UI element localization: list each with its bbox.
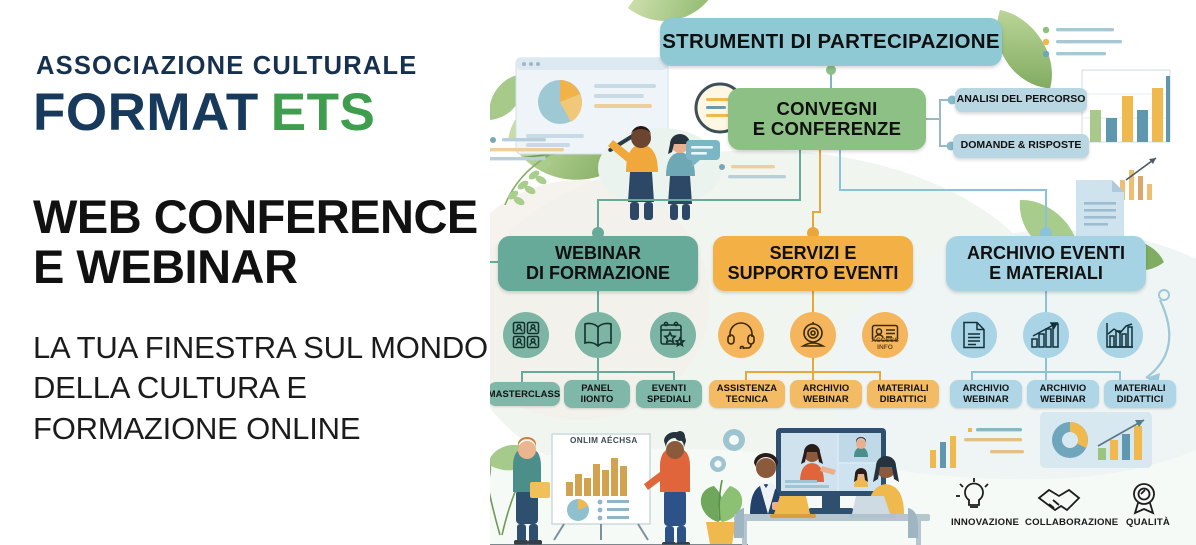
open-book-icon[interactable] — [575, 312, 621, 358]
chip-domande-risposte[interactable]: DOMANDE & RISPOSTE — [953, 134, 1089, 158]
node-convegni-conferenze[interactable]: CONVEGNI E CONFERENZE — [728, 88, 926, 150]
webcam-check-icon[interactable] — [790, 312, 836, 358]
value-collaborazione: COLLABORAZIONE — [1025, 515, 1115, 528]
left-text-panel: ASSOCIAZIONE CULTURALE FORMATETS WEB CON… — [0, 0, 490, 545]
document-icon[interactable] — [951, 312, 997, 358]
association-label: ASSOCIAZIONE CULTURALE — [36, 52, 418, 81]
page-subtitle: LA TUA FINESTRA SUL MONDO DELLA CULTURA … — [33, 328, 490, 449]
value-innovazione-label: INNOVAZIONE — [950, 517, 1020, 528]
leaf-archivio-webinar-3[interactable]: ARCHIVIO WEBINAR — [1027, 380, 1099, 408]
calendar-star-icon[interactable] — [650, 312, 696, 358]
line-bar-chart-icon[interactable] — [1097, 312, 1143, 358]
leaf-assistenza-tecnica[interactable]: ASSISTENZA TECNICA — [709, 380, 785, 408]
value-collaborazione-label: COLLABORAZIONE — [1025, 517, 1115, 528]
node-archivio-eventi-materiali[interactable]: ARCHIVIO EVENTI E MATERIALI — [946, 236, 1146, 291]
leaf-masterclass[interactable]: MASTERCLASS — [488, 382, 560, 406]
node-strumenti-partecipazione[interactable]: STRUMENTI DI PARTECIPAZIONE — [660, 18, 1002, 66]
node-webinar-di-formazione[interactable]: WEBINAR DI FORMAZIONE — [498, 236, 698, 291]
headset-icon[interactable] — [718, 312, 764, 358]
brand-logo: FORMATETS — [33, 86, 375, 139]
brand-name-primary: FORMAT — [33, 83, 259, 142]
people-grid-icon[interactable] — [503, 312, 549, 358]
poster-canvas: ASSOCIAZIONE CULTURALE FORMATETS WEB CON… — [0, 0, 1196, 545]
leaf-materiali-dibattici[interactable]: MATERIALI DIBATTICI — [867, 380, 939, 408]
leaf-eventi-spediali[interactable]: EVENTI SPEDIALI — [636, 380, 702, 408]
leaf-materiali-didattici[interactable]: MATERIALI DIDATTICI — [1104, 380, 1176, 408]
infographic-panel: STRUMENTI DI PARTECIPAZIONE CONVEGNI E C… — [460, 0, 1196, 545]
leaf-panel-iionto[interactable]: PANEL IIONTO — [564, 380, 630, 408]
badge-access-label: ACCSSS INFO — [862, 338, 908, 352]
value-qualita-label: QUALITÀ — [1118, 517, 1178, 528]
value-innovazione: INNOVAZIONE — [950, 515, 1020, 528]
leaf-archivio-webinar-1[interactable]: ARCHIVIO WEBINAR — [790, 380, 862, 408]
bar-chart-up-icon[interactable] — [1023, 312, 1069, 358]
node-servizi-supporto-eventi[interactable]: SERVIZI E SUPPORTO EVENTI — [713, 236, 913, 291]
value-qualita: QUALITÀ — [1118, 515, 1178, 528]
brand-name-secondary: ETS — [271, 83, 376, 142]
leaf-archivio-webinar-2[interactable]: ARCHIVIO WEBINAR — [950, 380, 1022, 408]
chip-analisi-del-percorso[interactable]: ANALISI DEL PERCORSO — [955, 88, 1087, 112]
flipchart-label: ONLIM AÉCHSA — [570, 436, 638, 445]
page-title: WEB CONFERENCE E WEBINAR — [33, 192, 490, 292]
